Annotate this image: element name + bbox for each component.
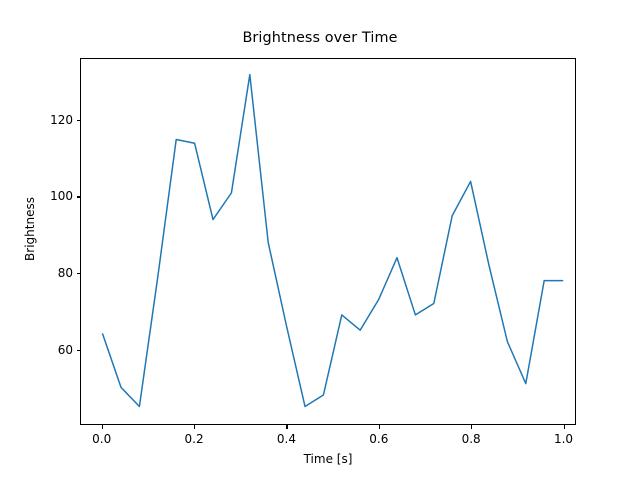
- x-tick-label: 0.8: [462, 432, 481, 446]
- y-axis-label: Brightness: [23, 169, 37, 289]
- x-tick-label: 1.0: [554, 432, 573, 446]
- x-tick-mark: [564, 425, 565, 429]
- x-tick-mark: [379, 425, 380, 429]
- x-tick-label: 0.4: [277, 432, 296, 446]
- x-tick-mark: [471, 425, 472, 429]
- y-tick-mark: [77, 196, 81, 197]
- data-line-series: [81, 59, 575, 424]
- chart-figure: Brightness over Time 6080100120 0.00.20.…: [0, 0, 640, 480]
- x-tick-label: 0.2: [185, 432, 204, 446]
- x-tick-mark: [286, 425, 287, 429]
- x-tick-mark: [102, 425, 103, 429]
- plot-area: [80, 58, 576, 425]
- x-tick-mark: [194, 425, 195, 429]
- brightness-line: [103, 75, 563, 407]
- x-tick-label: 0.6: [369, 432, 388, 446]
- x-tick-label: 0.0: [92, 432, 111, 446]
- y-tick-label: 120: [18, 113, 73, 127]
- y-tick-mark: [77, 273, 81, 274]
- y-tick-mark: [77, 350, 81, 351]
- y-tick-label: 60: [18, 343, 73, 357]
- x-axis-label: Time [s]: [80, 452, 576, 466]
- chart-title: Brightness over Time: [0, 30, 640, 46]
- y-tick-mark: [77, 120, 81, 121]
